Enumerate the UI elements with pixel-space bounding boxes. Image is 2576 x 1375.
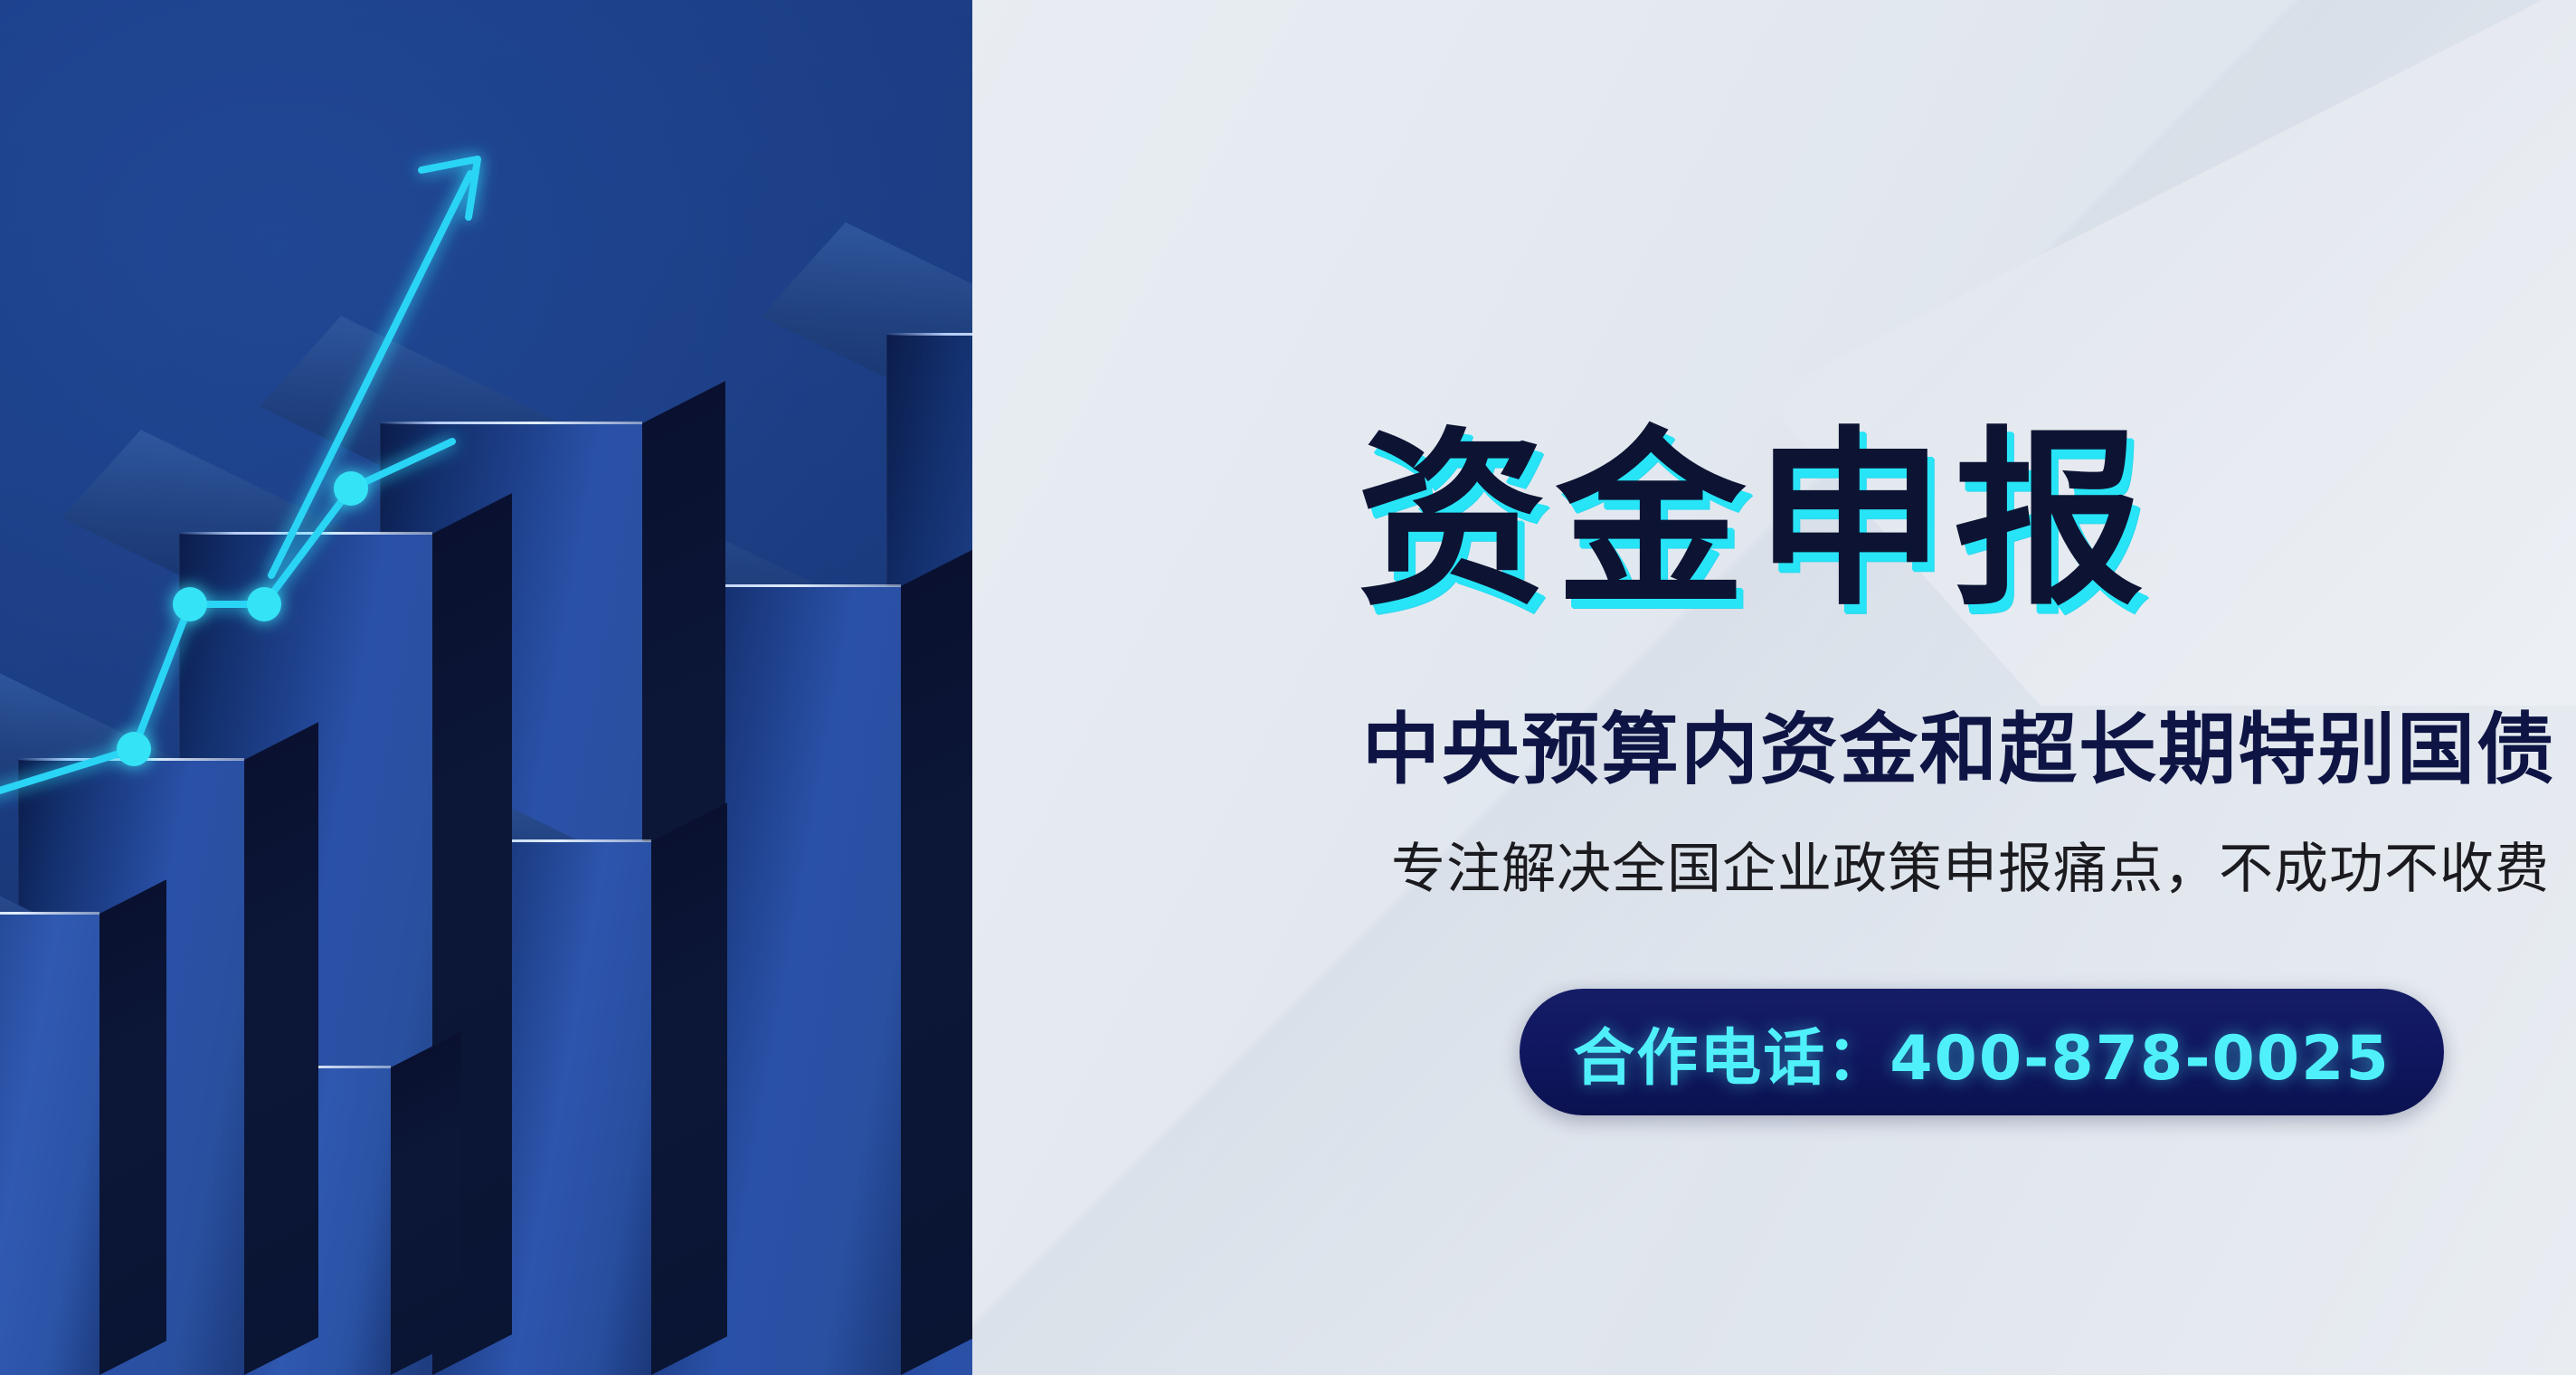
bar-front-face [0, 914, 99, 1375]
bar-edge-highlight [380, 422, 642, 424]
bar-side-face [244, 722, 318, 1375]
page-title: 资金申报 [1357, 426, 2153, 616]
banner-root: 资金申报 中央预算内资金和超长期特别国债 专注解决全国企业政策申报痛点，不成功不… [0, 0, 2576, 1375]
bar-edge-highlight [179, 532, 432, 535]
subtitle: 中央预算内资金和超长期特别国债 [1362, 706, 2556, 793]
bar-side-face [99, 879, 166, 1375]
contact-phone-label: 合作电话：400-878-0025 [1573, 1008, 2391, 1097]
bar-side-face [391, 1031, 461, 1375]
bar-side-face [651, 802, 727, 1375]
tagline: 专注解决全国企业政策申报痛点，不成功不收费 [1391, 837, 2550, 902]
bar-column [0, 914, 99, 1375]
bar-edge-highlight [18, 758, 244, 761]
bar-edge-highlight [0, 912, 99, 915]
contact-phone-button[interactable]: 合作电话：400-878-0025 [1520, 989, 2444, 1115]
content-column: 资金申报 中央预算内资金和超长期特别国债 专注解决全国企业政策申报痛点，不成功不… [1339, 0, 2551, 1375]
